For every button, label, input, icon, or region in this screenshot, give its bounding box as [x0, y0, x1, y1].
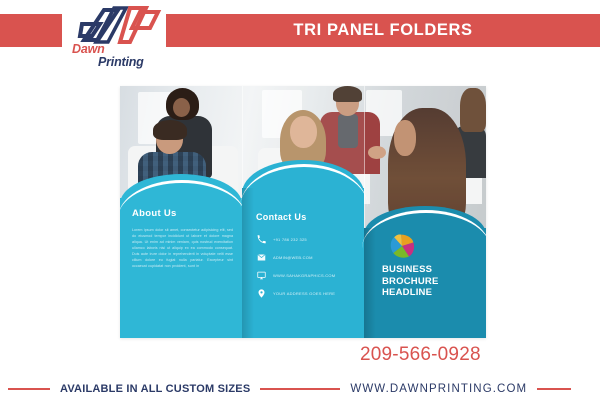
- cover-headline: BUSINESS BROCHURE HEADLINE: [382, 264, 439, 299]
- location-pin-icon: [256, 288, 267, 299]
- contact-row-email: ADMIN@WEB.COM: [256, 252, 356, 263]
- logo-word-dawn: Dawn: [72, 42, 105, 56]
- contact-address-text: YOUR ADDRESS GOES HERE: [273, 291, 335, 296]
- cover-headline-line1: BUSINESS: [382, 264, 439, 276]
- logo-word-printing: Printing: [98, 55, 144, 69]
- footer-tagline-row: AVAILABLE IN ALL CUSTOM SIZES WWW.DAWNPR…: [0, 380, 600, 398]
- cover-headline-line2: BROCHURE: [382, 276, 439, 288]
- page-title: TRI PANEL FOLDERS: [166, 14, 600, 47]
- contact-row-website: WWW.SAHAKGRAPHICS.COM: [256, 270, 356, 281]
- footer-phone-number[interactable]: 209-566-0928: [360, 344, 600, 366]
- envelope-icon: [256, 252, 267, 263]
- brand-logo: Dawn Printing: [66, 6, 166, 70]
- monitor-icon: [256, 270, 267, 281]
- footer-available-text: AVAILABLE IN ALL CUSTOM SIZES: [60, 383, 250, 395]
- header-band-left: [0, 14, 62, 47]
- about-us-body-text: Lorem ipsum dolor sit amet, consectetur …: [132, 228, 233, 270]
- about-us-section: About Us Lorem ipsum dolor sit amet, con…: [120, 198, 242, 338]
- footer-website-link[interactable]: WWW.DAWNPRINTING.COM: [350, 383, 527, 395]
- cover-headline-line3: HEADLINE: [382, 287, 439, 299]
- page-footer: 209-566-0928 AVAILABLE IN ALL CUSTOM SIZ…: [0, 344, 600, 400]
- cover-panel-section: BUSINESS BROCHURE HEADLINE: [364, 228, 486, 338]
- page-header: TRI PANEL FOLDERS Dawn Printing: [0, 0, 600, 72]
- contact-row-phone: +91 786 232 325: [256, 234, 356, 245]
- contact-website-text: WWW.SAHAKGRAPHICS.COM: [273, 273, 335, 278]
- footer-rule-middle: [260, 388, 340, 390]
- brochure-product-image: About Us Lorem ipsum dolor sit amet, con…: [120, 86, 486, 338]
- contact-email-text: ADMIN@WEB.COM: [273, 255, 313, 260]
- phone-icon: [256, 234, 267, 245]
- contact-row-address: YOUR ADDRESS GOES HERE: [256, 288, 356, 299]
- brochure-panels: About Us Lorem ipsum dolor sit amet, con…: [120, 86, 486, 338]
- contact-phone-text: +91 786 232 325: [273, 237, 307, 242]
- about-us-heading: About Us: [132, 208, 233, 219]
- footer-rule-right: [537, 388, 571, 390]
- pinwheel-logo-icon: [388, 232, 416, 260]
- contact-us-section: Contact Us +91 786 232 325 ADMIN@WEB.COM…: [242, 188, 364, 338]
- footer-rule-left: [8, 388, 50, 390]
- contact-us-heading: Contact Us: [256, 212, 356, 222]
